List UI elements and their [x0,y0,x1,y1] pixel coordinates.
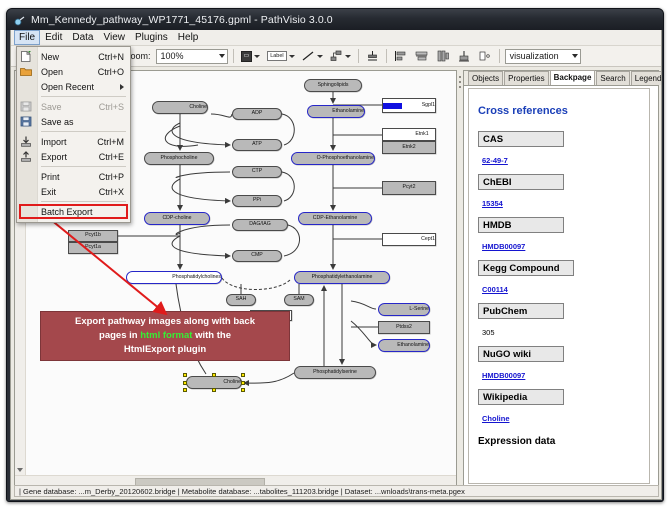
pathway-node-etnk1[interactable]: Etnk1 [382,128,436,141]
cross-references-title: Cross references [478,105,640,117]
annotation-line-2-b: with the [192,330,231,341]
interaction-tool-icon [330,50,343,62]
pathway-node-ctp[interactable]: CTP [232,166,282,178]
window-body: File Edit Data View Plugins Help Zoom: 1… [10,30,662,500]
group-icon [457,50,471,62]
file-menu-item-export[interactable]: Export Ctrl+E [17,149,130,164]
file-menu-accel-save: Ctrl+S [99,102,124,112]
xref-link-kegg-compound[interactable]: C00114 [482,285,508,294]
toolbar-separator [499,49,500,63]
pathway-node-sah[interactable]: SAH [226,294,256,306]
node-label: DAG/IAG [249,222,271,227]
xref-header-hmdb: HMDB [478,217,564,233]
align-left-icon [394,50,408,62]
pathway-node-ptdss2[interactable]: Ptdss2 [378,321,430,334]
file-menu-separator [41,201,126,202]
menu-file[interactable]: File [14,30,40,45]
new-file-icon [20,51,32,62]
scroll-down-icon[interactable] [17,468,23,472]
pathway-node-sphingolipids[interactable]: Sphingolipids [304,79,362,92]
node-label: Choline [189,105,207,110]
node-label: L-Serine [409,307,429,312]
menu-plugins[interactable]: Plugins [130,30,173,45]
annotation-callout: Export pathway images along with back pa… [40,311,290,361]
menu-edit[interactable]: Edit [40,30,67,45]
node-label: Pcyt1b [85,233,101,238]
node-label: Phosphatidylcholines [172,275,221,280]
xref-value-pubchem: 305 [482,328,495,337]
node-label: Pcyt1a [85,245,101,250]
save-as-icon [20,116,32,127]
side-panel-tabstrip: Objects Properties Backpage Search Legen… [464,71,658,86]
node-fill-left [383,103,402,109]
pathway-node-adp[interactable]: ADP [232,108,282,120]
chevron-down-icon [345,55,351,58]
node-label: Choline [223,380,241,385]
pathway-node-pcyt1a[interactable]: Pcyt1a [68,242,118,254]
file-menu-popup[interactable]: New Ctrl+N Open Ctrl+O Open Recent [16,46,131,223]
annotation-line-1: Export pathway images along with back [45,315,285,329]
node-label: CMP [251,253,263,258]
pathway-node-ppi[interactable]: PPi [232,195,282,207]
chevron-down-icon [254,55,260,58]
node-label: Phosphocholine [161,156,198,161]
file-menu-accel-exit: Ctrl+X [99,187,124,197]
line-tool-button[interactable] [300,48,325,64]
chevron-right-icon [120,84,124,90]
distribute-icon [415,50,429,62]
expression-data-title: Expression data [478,436,640,447]
xref-link-nugo-wiki[interactable]: HMDB00097 [482,371,525,380]
tab-properties[interactable]: Properties [504,71,548,85]
pathway-node-cept1[interactable]: Cept1 [382,233,436,246]
pathway-node-ethanolamine-2[interactable]: Ethanolamine [378,339,430,352]
file-menu-item-open-recent[interactable]: Open Recent [17,79,130,94]
file-menu-label-print: Print [41,172,60,182]
zoom-combobox[interactable]: 100% [156,49,228,64]
pathway-node-pcyt2[interactable]: Pcyt2 [382,181,436,195]
pathvisio-icon [14,14,26,26]
node-label: Cept1 [421,237,435,242]
visualization-value: visualization [510,51,559,61]
resize-handle-nw[interactable] [183,373,187,377]
node-label: O-Phosphoethanolamine [317,156,374,161]
open-folder-icon [20,66,32,77]
annotation-line-3: HtmlExport plugin [45,343,285,357]
file-menu-label-new: New [41,52,59,62]
file-menu-item-batch-export[interactable]: Batch Export [17,204,130,219]
tab-objects[interactable]: Objects [468,71,503,85]
resize-handle-se[interactable] [241,388,245,392]
pathway-node-cdp-ethanolamine[interactable]: CDP-Ethanolamine [298,212,372,225]
xref-header-wikipedia: Wikipedia [478,389,564,405]
toolbar-separator [233,49,234,63]
bring-to-front-icon [478,50,492,62]
file-menu-accel-import: Ctrl+M [97,137,124,147]
node-label: Ethanolamine [332,109,364,114]
anchor-tool-button[interactable] [364,48,381,64]
file-menu-item-import[interactable]: Import Ctrl+M [17,134,130,149]
resize-handle-ne[interactable] [241,373,245,377]
resize-handle-w[interactable] [183,381,187,385]
window-titlebar: Mm_Kennedy_pathway_WP1771_45176.gpml - P… [7,9,663,30]
xref-link-chebi[interactable]: 15354 [482,199,503,208]
annotation-line-2-a: pages in [99,330,140,341]
selected-node-group: Choline [186,376,242,389]
node-label: SAH [236,297,247,302]
node-label: SAM [293,297,304,302]
pathway-node-ethanolamine[interactable]: Ethanolamine [307,105,365,118]
side-panel: Objects Properties Backpage Search Legen… [463,70,659,488]
xref-header-nugo-wiki: NuGO wiki [478,346,564,362]
export-icon [20,151,32,162]
chevron-down-icon [572,54,578,58]
menu-help[interactable]: Help [173,30,204,45]
application-window: Mm_Kennedy_pathway_WP1771_45176.gpml - P… [6,8,664,502]
menu-data[interactable]: Data [67,30,98,45]
node-label: Phosphatidylserine [313,370,357,375]
xref-header-pubchem: PubChem [478,303,564,319]
label-tool-icon: Label [267,51,286,61]
file-menu-accel-export: Ctrl+E [99,152,124,162]
splitter-grip-icon [459,76,462,90]
xref-link-cas[interactable]: 62-49-7 [482,156,508,165]
annotation-line-2: pages in html format with the [45,329,285,343]
rectangle-tool-icon: ▭ [241,51,253,62]
screenshot-root: Mm_Kennedy_pathway_WP1771_45176.gpml - P… [0,0,670,509]
stack-icon [436,50,450,62]
distribute-horizontal-button[interactable] [413,48,431,64]
import-icon [20,136,32,147]
file-menu-item-save-as[interactable]: Save as [17,114,130,129]
toolbar-separator [358,49,359,63]
node-label: Ethanolamine [397,343,429,348]
shape-tool-button[interactable]: ▭ [239,48,263,64]
pathway-node-cmp[interactable]: CMP [232,250,282,262]
file-menu-label-open-recent: Open Recent [41,82,94,92]
pathway-node-etnk2[interactable]: Etnk2 [382,141,436,154]
node-label: ADP [252,111,263,116]
align-left-button[interactable] [392,48,410,64]
pathway-node-choline[interactable]: Choline [152,101,208,114]
file-menu-accel-print: Ctrl+P [99,172,124,182]
pathway-node-phosphocholine[interactable]: Phosphocholine [144,152,214,165]
resize-handle-sw[interactable] [183,388,187,392]
pathway-node-phosphatidylserine[interactable]: Phosphatidylserine [294,366,376,379]
backpage-content: Cross references CAS 62-49-7 ChEBI 15354… [468,88,650,484]
pathway-node-dag-iag[interactable]: DAG/IAG [232,219,288,231]
statusbar-text: | Gene database: ...m_Derby_20120602.bri… [19,487,465,496]
file-menu-label-import: Import [41,137,67,147]
file-menu-accel-new: Ctrl+N [98,52,124,62]
file-menu-separator [41,131,126,132]
file-menu-accel-open: Ctrl+O [98,67,124,77]
label-tool-button[interactable]: Label [265,48,296,64]
file-menu-label-save: Save [41,102,62,112]
anchor-tool-icon [366,50,379,62]
resize-handle-e[interactable] [241,381,245,385]
save-icon [20,101,32,112]
menubar: File Edit Data View Plugins Help [11,30,661,46]
node-label: CDP-Ethanolamine [313,216,357,221]
pathway-node-sam[interactable]: SAM [284,294,314,306]
pathway-node-atp[interactable]: ATP [232,139,282,151]
group-button[interactable] [455,48,473,64]
stack-vertical-button[interactable] [434,48,452,64]
node-label: Sphingolipids [318,83,349,88]
zoom-value: 100% [161,51,184,61]
node-label: CDP-choline [162,216,191,221]
resize-handle-s[interactable] [212,388,216,392]
file-menu-item-open[interactable]: Open Ctrl+O [17,64,130,79]
file-menu-item-print[interactable]: Print Ctrl+P [17,169,130,184]
tab-search[interactable]: Search [596,71,629,85]
xref-link-hmdb[interactable]: HMDB00097 [482,242,525,251]
file-menu-separator [41,166,126,167]
file-menu-label-batch-export: Batch Export [41,207,93,217]
node-label: CTP [252,169,262,174]
line-tool-icon [302,51,315,62]
xref-header-chebi: ChEBI [478,174,564,190]
chevron-down-icon [289,55,295,58]
pathway-node-o-phosphoethanolamine[interactable]: O-Phosphoethanolamine [291,152,375,165]
chevron-down-icon [317,55,323,58]
pathway-node-phosphatidylcholines[interactable]: Phosphatidylcholines [126,271,222,284]
file-menu-label-export: Export [41,152,67,162]
file-menu-item-new[interactable]: New Ctrl+N [17,49,130,64]
node-label: ATP [252,142,262,147]
resize-handle-n[interactable] [212,373,216,377]
window-title: Mm_Kennedy_pathway_WP1771_45176.gpml - P… [31,14,333,26]
tab-backpage[interactable]: Backpage [550,70,596,85]
node-label: Phosphatidylethanolamine [312,275,373,280]
xref-header-kegg-compound: Kegg Compound [478,260,574,276]
visualization-combobox[interactable]: visualization [505,49,581,64]
node-label: Etnk2 [402,145,415,150]
order-button[interactable] [476,48,494,64]
statusbar: | Gene database: ...m_Derby_20120602.bri… [14,485,659,497]
file-menu-separator [41,96,126,97]
menu-view[interactable]: View [98,30,130,45]
xref-link-wikipedia[interactable]: Choline [482,414,510,423]
tab-legend[interactable]: Legend [631,71,662,85]
xref-header-cas: CAS [478,131,564,147]
file-menu-label-save-as: Save as [41,117,74,127]
file-menu-item-exit[interactable]: Exit Ctrl+X [17,184,130,199]
chevron-down-icon [219,54,225,58]
node-label: Pcyt2 [403,185,416,190]
node-label: Sgpl1 [422,103,435,108]
pathway-node-l-serine[interactable]: L-Serine [378,303,430,316]
annotation-highlight: html format [140,330,192,341]
node-label: PPi [253,198,261,203]
file-menu-label-exit: Exit [41,187,56,197]
toolbar-separator [386,49,387,63]
pathway-node-phosphatidylethanolamine[interactable]: Phosphatidylethanolamine [294,271,390,284]
file-menu-label-open: Open [41,67,63,77]
pathway-node-sgpl1[interactable]: Sgpl1 [382,98,436,113]
node-label: Ptdss2 [396,325,412,330]
interaction-tool-button[interactable] [328,48,353,64]
pathway-node-cdp-choline[interactable]: CDP-choline [144,212,210,225]
node-label: Etnk1 [415,132,428,137]
file-menu-item-save[interactable]: Save Ctrl+S [17,99,130,114]
pathway-node-pcyt1b[interactable]: Pcyt1b [68,230,118,242]
